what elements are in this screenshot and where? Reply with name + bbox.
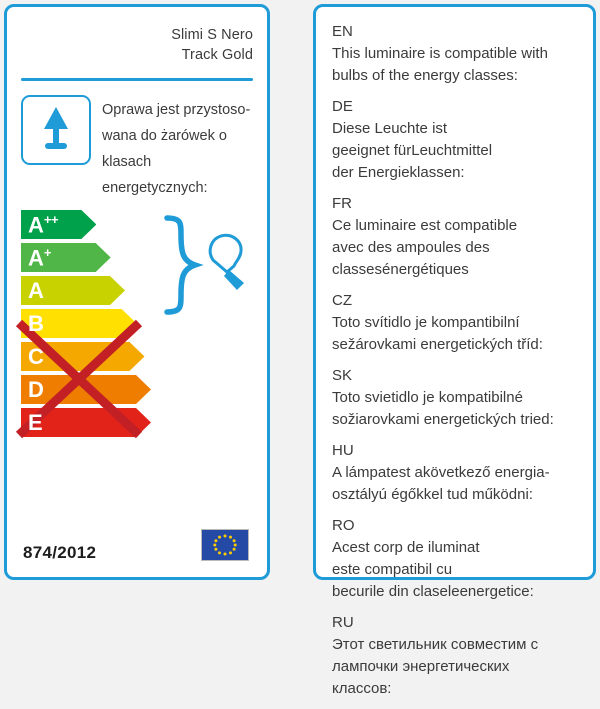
language-text-line: Toto svietidlo je kompatibilné (332, 387, 585, 409)
language-text-line: geeignet fürLeuchtmittel (332, 140, 585, 162)
language-code: CZ (332, 290, 585, 312)
language-block-fr: FRCe luminaire est compatibleavec des am… (332, 193, 585, 281)
language-text-line: der Energieklassen: (332, 162, 585, 184)
regulation-number: 874/2012 (23, 543, 96, 563)
language-code: RU (332, 612, 585, 634)
language-code: EN (332, 21, 585, 43)
language-text-line: osztályú égőkkel tud működni: (332, 484, 585, 506)
energy-label-left-panel: Slimi S Nero Track Gold Oprawa jest przy… (4, 4, 270, 580)
language-text-line: becurile din claseleenergetice: (332, 581, 585, 603)
language-code: RO (332, 515, 585, 537)
page-title: Slimi S Nero Track Gold (171, 25, 253, 65)
language-block-de: DEDiese Leuchte istgeeignet fürLeuchtmit… (332, 96, 585, 184)
language-text-line: classesénergétiques (332, 259, 585, 281)
title-divider (21, 78, 253, 81)
language-list: ENThis luminaire is compatible withbulbs… (332, 21, 585, 709)
language-text-line: лампочки энергетических (332, 656, 585, 678)
compatibility-statement: Oprawa jest przystoso- wana do żarówek o… (21, 95, 257, 201)
energy-label-right-panel: ENThis luminaire is compatible withbulbs… (313, 4, 596, 580)
energy-class-label: A (21, 280, 44, 302)
language-text-line: este compatibil cu (332, 559, 585, 581)
statement-line-1: Oprawa jest przystoso- (102, 97, 257, 123)
language-block-sk: SKToto svietidlo je kompatibilnésožiarov… (332, 365, 585, 431)
energy-class-bar-d: D (21, 375, 151, 404)
language-block-ru: RUЭтот светильник совместим слампочки эн… (332, 612, 585, 700)
language-text-line: Toto svítidlo je kompantibilní (332, 312, 585, 334)
language-block-cz: CZToto svítidlo je kompantibilnísežárovk… (332, 290, 585, 356)
language-code: SK (332, 365, 585, 387)
language-code: HU (332, 440, 585, 462)
energy-class-label: E (21, 412, 43, 434)
lamp-icon-box (21, 95, 91, 165)
energy-class-bar-a: A (21, 276, 151, 305)
language-code: FR (332, 193, 585, 215)
language-text-line: This luminaire is compatible with (332, 43, 585, 65)
language-block-hu: HUA lámpatest akövetkező energia-osztály… (332, 440, 585, 506)
language-text-line: Ce luminaire est compatible (332, 215, 585, 237)
language-text-line: Diese Leuchte ist (332, 118, 585, 140)
statement-text: Oprawa jest przystoso- wana do żarówek o… (102, 95, 257, 201)
product-title-line-1: Slimi S Nero (171, 25, 253, 45)
energy-class-bar-c: C (21, 342, 151, 371)
brace-and-bulb-group (155, 213, 260, 318)
language-block-ro: ROAcest corp de iluminateste compatibil … (332, 515, 585, 603)
eu-flag (201, 529, 249, 561)
energy-class-bar-aplusplus: A++ (21, 210, 151, 239)
energy-class-bar-b: B (21, 309, 151, 338)
language-text-line: Acest corp de iluminat (332, 537, 585, 559)
energy-class-bar-e: E (21, 408, 151, 437)
statement-line-2: wana do żarówek o (102, 123, 257, 149)
language-text-line: sežárovkami energetických tříd: (332, 334, 585, 356)
energy-class-label: C (21, 346, 44, 368)
language-block-en: ENThis luminaire is compatible withbulbs… (332, 21, 585, 87)
language-text-line: bulbs of the energy classes: (332, 65, 585, 87)
energy-class-scale: A++ A+ A B C D E (21, 210, 151, 441)
language-text-line: классов: (332, 678, 585, 700)
energy-class-label: A+ (21, 246, 51, 269)
energy-class-bar-aplus: A+ (21, 243, 151, 272)
energy-class-label: B (21, 313, 44, 335)
energy-class-label: D (21, 379, 44, 401)
table-lamp-icon (34, 103, 78, 158)
language-code: DE (332, 96, 585, 118)
product-title-line-2: Track Gold (171, 45, 253, 65)
energy-class-label: A++ (21, 213, 58, 236)
light-bulb-icon (210, 235, 244, 290)
language-text-line: A lámpatest akövetkező energia- (332, 462, 585, 484)
statement-line-3: klasach energetycznych: (102, 149, 257, 201)
language-text-line: sožiarovkami energetických tried: (332, 409, 585, 431)
language-text-line: Этот светильник совместим с (332, 634, 585, 656)
language-text-line: avec des ampoules des (332, 237, 585, 259)
